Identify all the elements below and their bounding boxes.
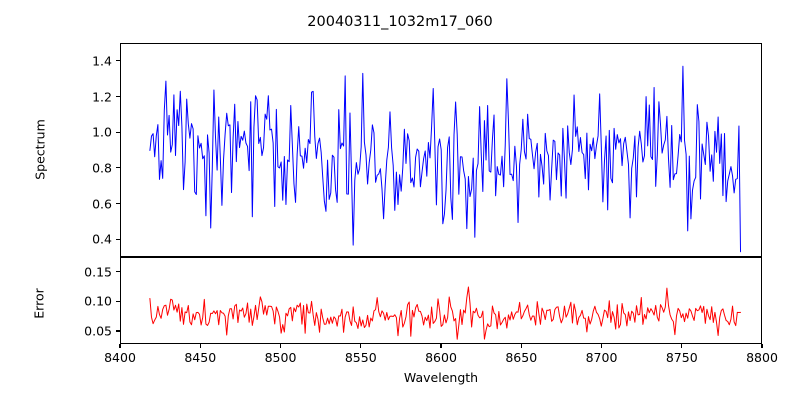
xtick-label: 8700 [586,350,618,365]
xtick-label: 8750 [666,350,698,365]
ytick-label: 0.8 [92,160,112,175]
ytick-label: 0.6 [92,196,112,211]
xtick-mark [681,344,682,348]
ytick-mark [116,60,120,61]
xtick-mark [200,344,201,348]
ytick-mark [116,203,120,204]
xtick-mark [440,344,441,348]
matplotlib-figure: 20040311_1032m17_060 0.40.60.81.01.21.4 … [0,0,800,400]
ytick-mark [116,330,120,331]
xtick-label: 8600 [425,350,457,365]
ytick-label: 1.2 [92,89,112,104]
spectrum-y-axis-label: Spectrum [33,90,48,210]
spectrum-line [121,44,763,258]
ytick-label: 0.05 [84,323,112,338]
xtick-label: 8550 [345,350,377,365]
error-line [121,258,763,345]
xtick-label: 8450 [184,350,216,365]
xtick-mark [601,344,602,348]
error-axes [120,257,762,344]
xtick-mark [521,344,522,348]
xtick-mark [119,344,120,348]
svg-spectrum-path [150,66,741,251]
figure-title: 20040311_1032m17_060 [0,14,800,30]
ytick-mark [116,271,120,272]
ytick-label: 0.15 [84,264,112,279]
ytick-mark [116,132,120,133]
ytick-mark [116,239,120,240]
xtick-label: 8650 [505,350,537,365]
spectrum-axes [120,43,762,257]
error-y-axis-label: Error [32,244,47,364]
xtick-label: 8800 [746,350,778,365]
ytick-label: 0.4 [92,232,112,247]
x-axis-label: Wavelength [120,370,762,385]
svg-error-path [150,287,741,339]
ytick-mark [116,167,120,168]
xtick-mark [761,344,762,348]
ytick-label: 1.4 [92,53,112,68]
ytick-label: 0.10 [84,294,112,309]
xtick-label: 8500 [265,350,297,365]
xtick-mark [280,344,281,348]
ytick-mark [116,96,120,97]
ytick-label: 1.0 [92,125,112,140]
ytick-mark [116,301,120,302]
xtick-label: 8400 [104,350,136,365]
xtick-mark [360,344,361,348]
